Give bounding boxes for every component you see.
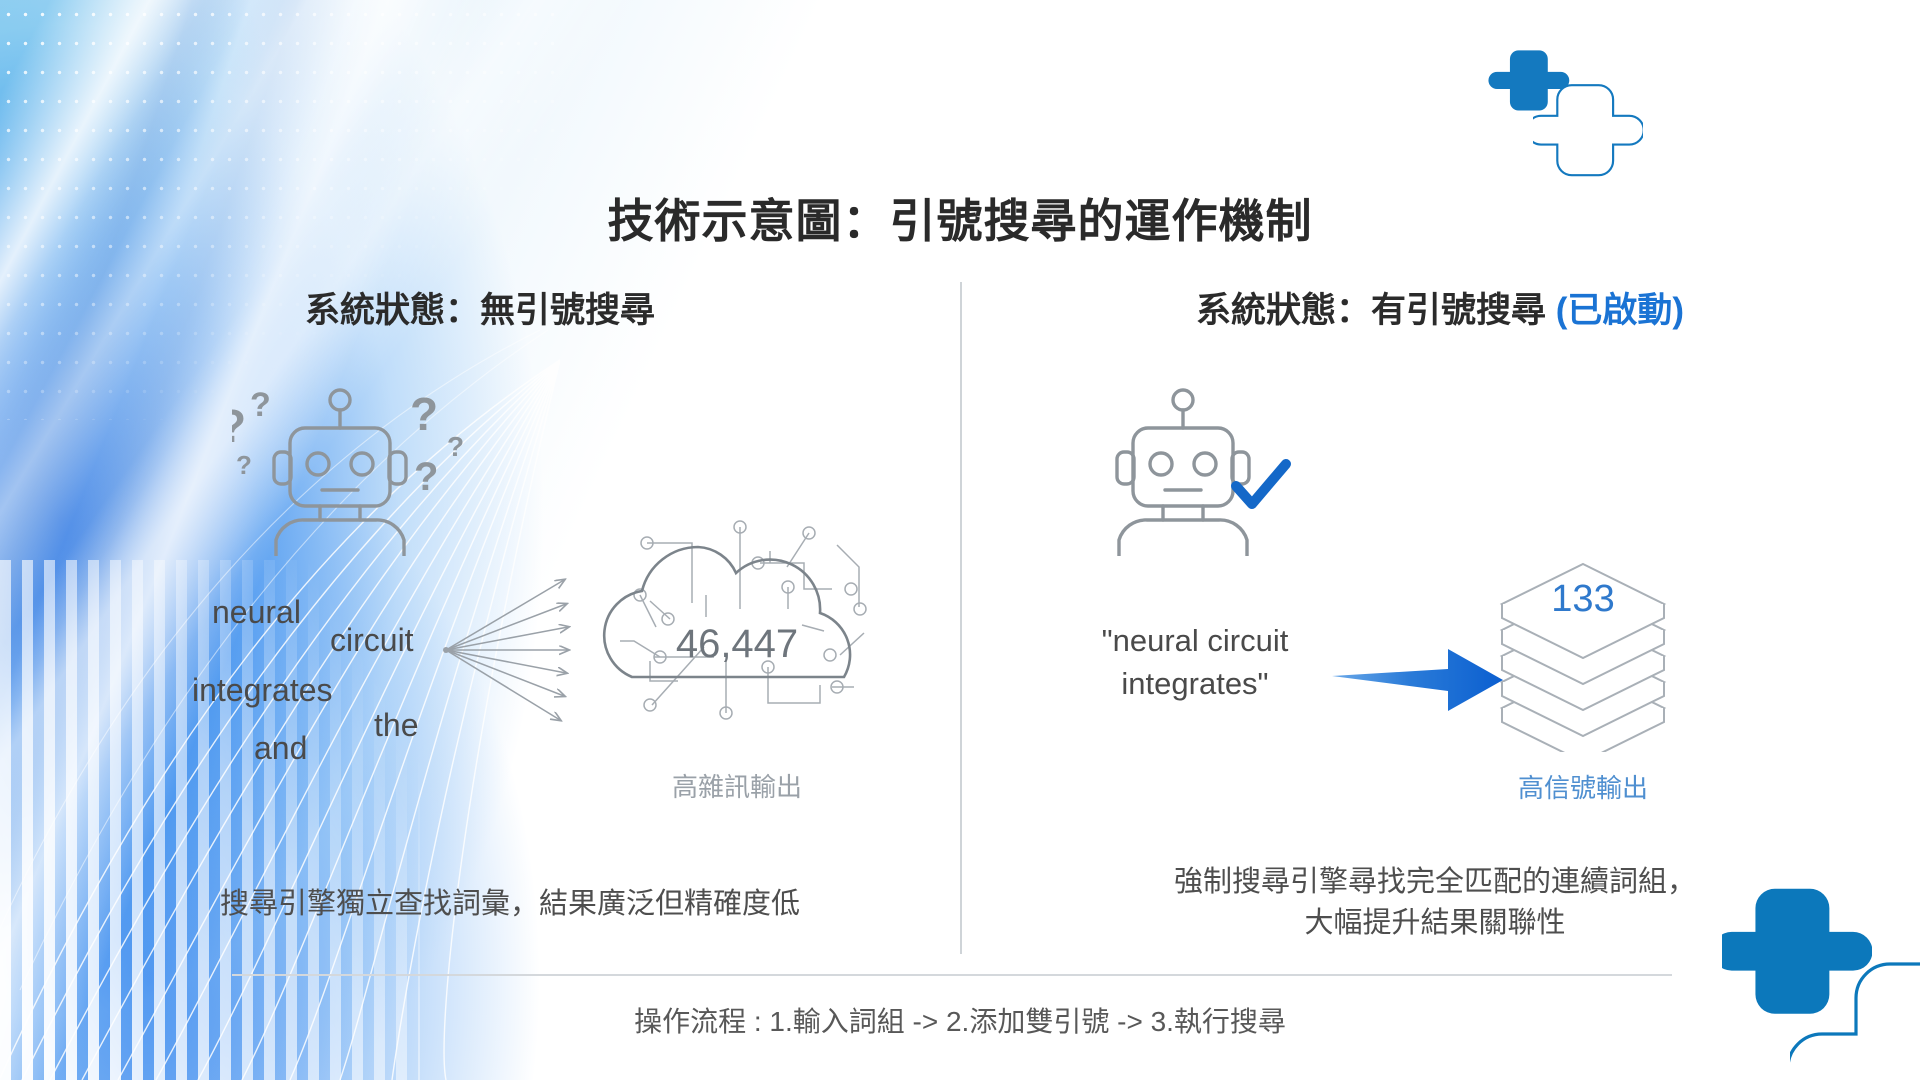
question-mark-icon: ? <box>232 400 246 452</box>
scattered-word: integrates <box>192 672 333 709</box>
question-mark-icon: ? <box>250 386 271 424</box>
blue-right-arrow-icon <box>1330 645 1505 715</box>
panel-divider <box>960 282 962 954</box>
noise-result-count: 46,447 <box>592 622 882 667</box>
diverging-arrows-icon <box>440 570 580 730</box>
right-panel-caption-line-1: 強制搜尋引擎尋找完全匹配的連續詞組， <box>985 862 1885 903</box>
scattered-word: neural <box>212 594 301 631</box>
signal-output-label: 高信號輸出 <box>1478 768 1688 805</box>
confused-robot-icon: ? ? ? ? ? ? <box>232 386 492 556</box>
right-panel-caption-line-2: 大幅提升結果關聯性 <box>985 903 1885 944</box>
question-mark-icon: ? <box>410 388 438 440</box>
plus-outline-icon <box>1533 78 1643 188</box>
question-mark-icon: ? <box>447 431 464 462</box>
quoted-query-phrase: "neural circuit integrates" <box>1045 620 1345 706</box>
right-panel-header: 系統狀態：有引號搜尋 (已啟動) <box>960 282 1920 333</box>
signal-result-count: 133 <box>1498 578 1668 621</box>
page-title: 技術示意圖：引號搜尋的運作機制 <box>0 185 1920 251</box>
right-panel-header-main: 系統狀態：有引號搜尋 <box>1196 291 1546 330</box>
footer-divider <box>232 974 1672 976</box>
right-panel-caption: 強制搜尋引擎尋找完全匹配的連續詞組， 大幅提升結果關聯性 <box>985 862 1885 944</box>
left-panel-caption: 搜尋引擎獨立查找詞彙，結果廣泛但精確度低 <box>60 880 960 922</box>
question-mark-icon: ? <box>414 455 438 499</box>
scattered-word: and <box>254 730 307 767</box>
scattered-word: the <box>374 707 418 744</box>
left-panel-header: 系統狀態：無引號搜尋 <box>0 282 960 333</box>
infographic-slide: 技術示意圖：引號搜尋的運作機制 系統狀態：無引號搜尋 系統狀態：有引號搜尋 (已… <box>0 0 1920 1080</box>
happy-robot-icon <box>1108 386 1308 556</box>
scattered-word: circuit <box>330 622 414 659</box>
operation-flow-text: 操作流程 : 1.輸入詞組 -> 2.添加雙引號 -> 3.執行搜尋 <box>0 1000 1920 1040</box>
question-mark-icon: ? <box>236 450 252 480</box>
quoted-query-line-2: integrates" <box>1045 663 1345 706</box>
right-panel-header-accent: (已啟動) <box>1556 291 1684 330</box>
quoted-query-line-1: "neural circuit <box>1045 620 1345 663</box>
noise-output-label: 高雜訊輸出 <box>592 767 882 804</box>
